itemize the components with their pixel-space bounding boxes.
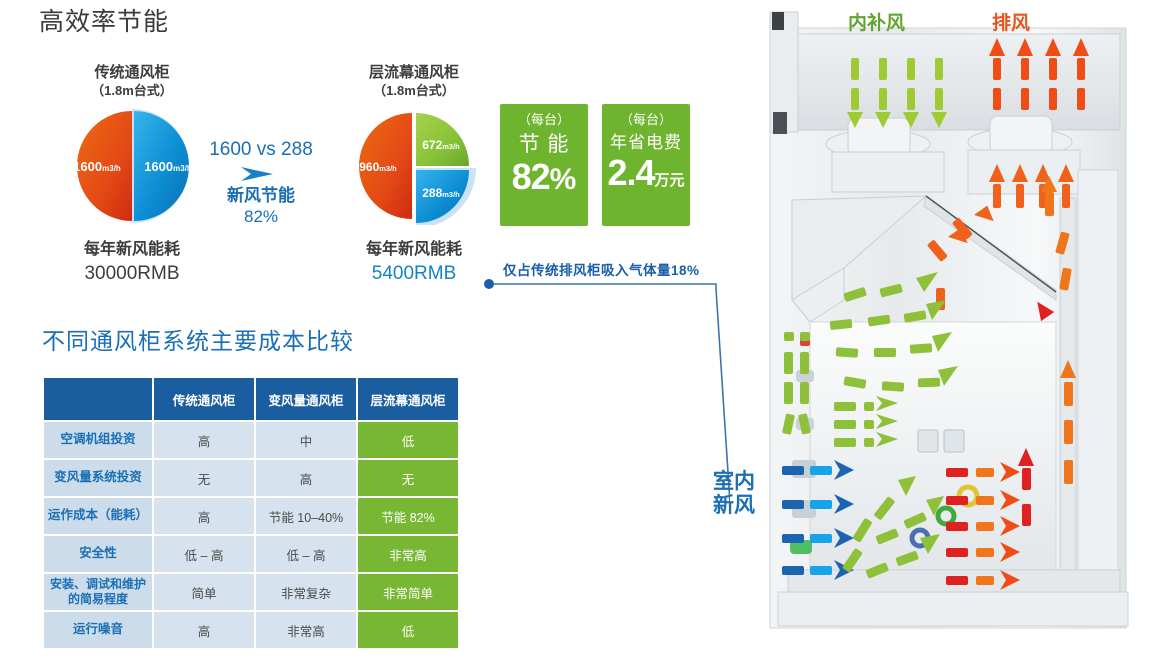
pie-svg-laminar: 960m3/h 672m3/h 288m3/h — [330, 107, 498, 225]
pie-caption-laminar: 层流幕通风柜 （1.8m台式） — [330, 64, 498, 99]
table-row: 安装、调试和维护的简易程度 简单 非常复杂 非常简单 — [44, 574, 458, 610]
diagram-label-supply-air: 内补风 — [848, 8, 905, 35]
power-socket-right — [944, 430, 964, 452]
badge-energy-saving: （每台） 节 能 82% — [500, 104, 588, 226]
cost-comparison-table: 传统通风柜 变风量通风柜 层流幕通风柜 空调机组投资 高 中 低 变风量系统投资… — [42, 376, 460, 650]
pie-footer-label: 每年新风能耗 — [366, 241, 462, 258]
table-cell: 简单 — [154, 574, 254, 610]
table-row-head: 运作成本（能耗） — [44, 498, 152, 534]
table-cell: 低 – 高 — [256, 536, 356, 572]
pie-comparison: 1600 vs 288 新风节能 82% — [196, 139, 326, 228]
table-cell: 非常高 — [256, 612, 356, 648]
pie-caption-traditional: 传统通风柜 （1.8m台式） — [48, 64, 216, 99]
comparison-caption: 新风节能 — [196, 185, 326, 206]
top-plenum — [784, 34, 1120, 130]
table-cell: 节能 10–40% — [256, 498, 356, 534]
pie-caption-sub: （1.8m台式） — [330, 83, 498, 99]
table-cell: 高 — [154, 498, 254, 534]
badge-big-value: 2.4万元 — [602, 155, 690, 191]
pie-block-traditional: 传统通风柜 （1.8m台式） 1600m3 — [48, 64, 216, 286]
table-row: 运行噪音 高 非常高 低 — [44, 612, 458, 648]
badge-unit: % — [550, 163, 577, 196]
badge-big-value: 82% — [500, 159, 588, 195]
table-cell-highlight: 非常高 — [358, 536, 458, 572]
pie-footer-value: 30000RMB — [48, 261, 216, 287]
badge-top-label: （每台） — [602, 113, 690, 126]
duct-sensor — [773, 112, 787, 134]
callout-path — [494, 284, 730, 503]
arrow-right-icon — [239, 165, 283, 183]
table-cell: 高 — [154, 612, 254, 648]
diagram-label-indoor-air: 室内 新风 — [713, 470, 755, 518]
table-title: 不同通风柜系统主要成本比较 — [42, 322, 354, 356]
pie-block-laminar: 层流幕通风柜 （1.8m台式） — [330, 64, 498, 286]
pie-caption-label: 层流幕通风柜 — [369, 64, 459, 81]
table-cell: 无 — [154, 460, 254, 496]
right-column — [1078, 170, 1118, 580]
table-cell-highlight: 非常简单 — [358, 574, 458, 610]
table-col-header-vav: 变风量通风柜 — [256, 378, 356, 420]
indoor-label-line2: 新风 — [713, 494, 755, 518]
header-bullet-icon — [18, 13, 29, 35]
page-header: 高效率节能 — [18, 10, 169, 35]
table-cell-highlight: 无 — [358, 460, 458, 496]
comparison-percent: 82% — [196, 206, 326, 227]
pie-footer-label: 每年新风能耗 — [84, 241, 180, 258]
indoor-label-line1: 室内 — [713, 470, 755, 494]
badge-number: 82 — [512, 156, 550, 197]
pie-chart-laminar: 960m3/h 672m3/h 288m3/h — [330, 107, 498, 225]
comparison-ratio: 1600 vs 288 — [196, 139, 326, 161]
table-row-head: 变风量系统投资 — [44, 460, 152, 496]
badge-unit: 万元 — [655, 172, 685, 189]
pie-svg-traditional: 1600m3/h 1600m3/h — [48, 107, 216, 225]
badge-top-label: （每台） — [500, 113, 588, 126]
table-cell-highlight: 节能 82% — [358, 498, 458, 534]
callout-leader-line — [480, 275, 730, 505]
table-row: 变风量系统投资 无 高 无 — [44, 460, 458, 496]
badge-mid-label: 节 能 — [500, 134, 588, 155]
pie-footer-traditional: 每年新风能耗 30000RMB — [48, 239, 216, 286]
table-row-head: 安装、调试和维护的简易程度 — [44, 574, 152, 610]
fume-hood-diagram — [748, 0, 1149, 660]
table-col-header-traditional: 传统通风柜 — [154, 378, 254, 420]
table-cell: 非常复杂 — [256, 574, 356, 610]
table-cell: 高 — [256, 460, 356, 496]
table-row-head: 运行噪音 — [44, 612, 152, 648]
supply-plenum-box — [832, 152, 944, 192]
page-title: 高效率节能 — [39, 10, 169, 35]
table-cell: 高 — [154, 422, 254, 458]
fan-motor-left — [848, 118, 910, 156]
table-col-header-blank — [44, 378, 152, 420]
table-cell: 低 – 高 — [154, 536, 254, 572]
callout-dot-icon — [484, 279, 494, 289]
badge-annual-savings: （每台） 年省电费 2.4万元 — [602, 104, 690, 226]
diagram-label-exhaust-air: 排风 — [992, 8, 1030, 35]
pie-footer-laminar: 每年新风能耗 5400RMB — [330, 239, 498, 286]
pie-caption-label: 传统通风柜 — [94, 64, 169, 81]
fan-motor-right — [990, 116, 1052, 154]
power-socket-left — [918, 430, 938, 452]
table-row: 运作成本（能耗） 高 节能 10–40% 节能 82% — [44, 498, 458, 534]
table-cell-highlight: 低 — [358, 612, 458, 648]
cabinet-base — [778, 592, 1128, 626]
table-cell: 中 — [256, 422, 356, 458]
table-cell-highlight: 低 — [358, 422, 458, 458]
badge-number: 2.4 — [607, 152, 654, 193]
pie-caption-sub: （1.8m台式） — [48, 83, 216, 99]
pie-chart-traditional: 1600m3/h 1600m3/h — [48, 107, 216, 225]
fume-hood-illustration — [748, 0, 1149, 660]
table-row: 空调机组投资 高 中 低 — [44, 422, 458, 458]
table-row-head: 空调机组投资 — [44, 422, 152, 458]
table-header-row: 传统通风柜 变风量通风柜 层流幕通风柜 — [44, 378, 458, 420]
table-col-header-laminar: 层流幕通风柜 — [358, 378, 458, 420]
duct-cap — [772, 12, 784, 30]
table-row-head: 安全性 — [44, 536, 152, 572]
pie-footer-value: 5400RMB — [330, 261, 498, 287]
table-row: 安全性 低 – 高 低 – 高 非常高 — [44, 536, 458, 572]
badge-mid-label: 年省电费 — [602, 134, 690, 151]
